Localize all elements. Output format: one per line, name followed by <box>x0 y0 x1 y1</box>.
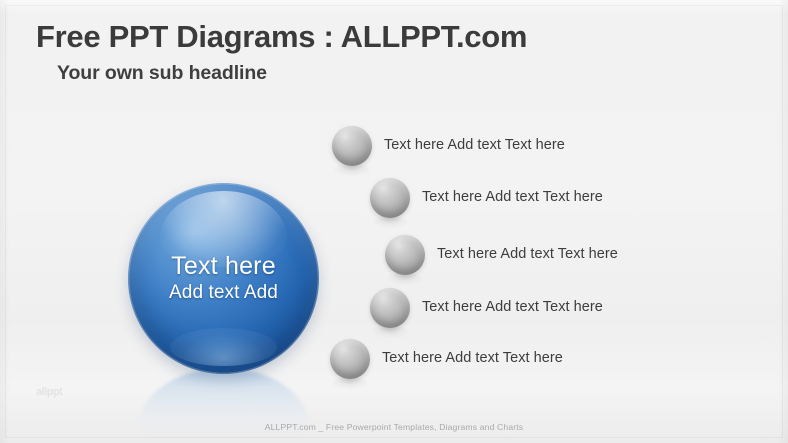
bullet-sphere-icon <box>332 126 372 166</box>
list-item-label: Text here Add text Text here <box>382 350 563 366</box>
footer-credit: ALLPPT.com _ Free Powerpoint Templates, … <box>0 422 788 432</box>
bullet-sphere-icon <box>370 178 410 218</box>
list-item-label: Text here Add text Text here <box>384 137 565 153</box>
list-item-label: Text here Add text Text here <box>422 299 603 315</box>
bullet-sphere-icon <box>385 235 425 275</box>
bullet-sphere-icon <box>370 288 410 328</box>
bullet-sphere-icon <box>330 339 370 379</box>
slide-canvas: Free PPT Diagrams : ALLPPT.com Your own … <box>0 0 788 443</box>
center-node[interactable]: Text here Add text Add <box>128 183 319 374</box>
page-subtitle: Your own sub headline <box>57 62 267 85</box>
list-item-label: Text here Add text Text here <box>437 246 618 262</box>
watermark-logo: allppt <box>36 386 62 398</box>
list-item-label: Text here Add text Text here <box>422 189 603 205</box>
page-title: Free PPT Diagrams : ALLPPT.com <box>36 19 527 55</box>
center-node-sphere <box>128 183 319 374</box>
